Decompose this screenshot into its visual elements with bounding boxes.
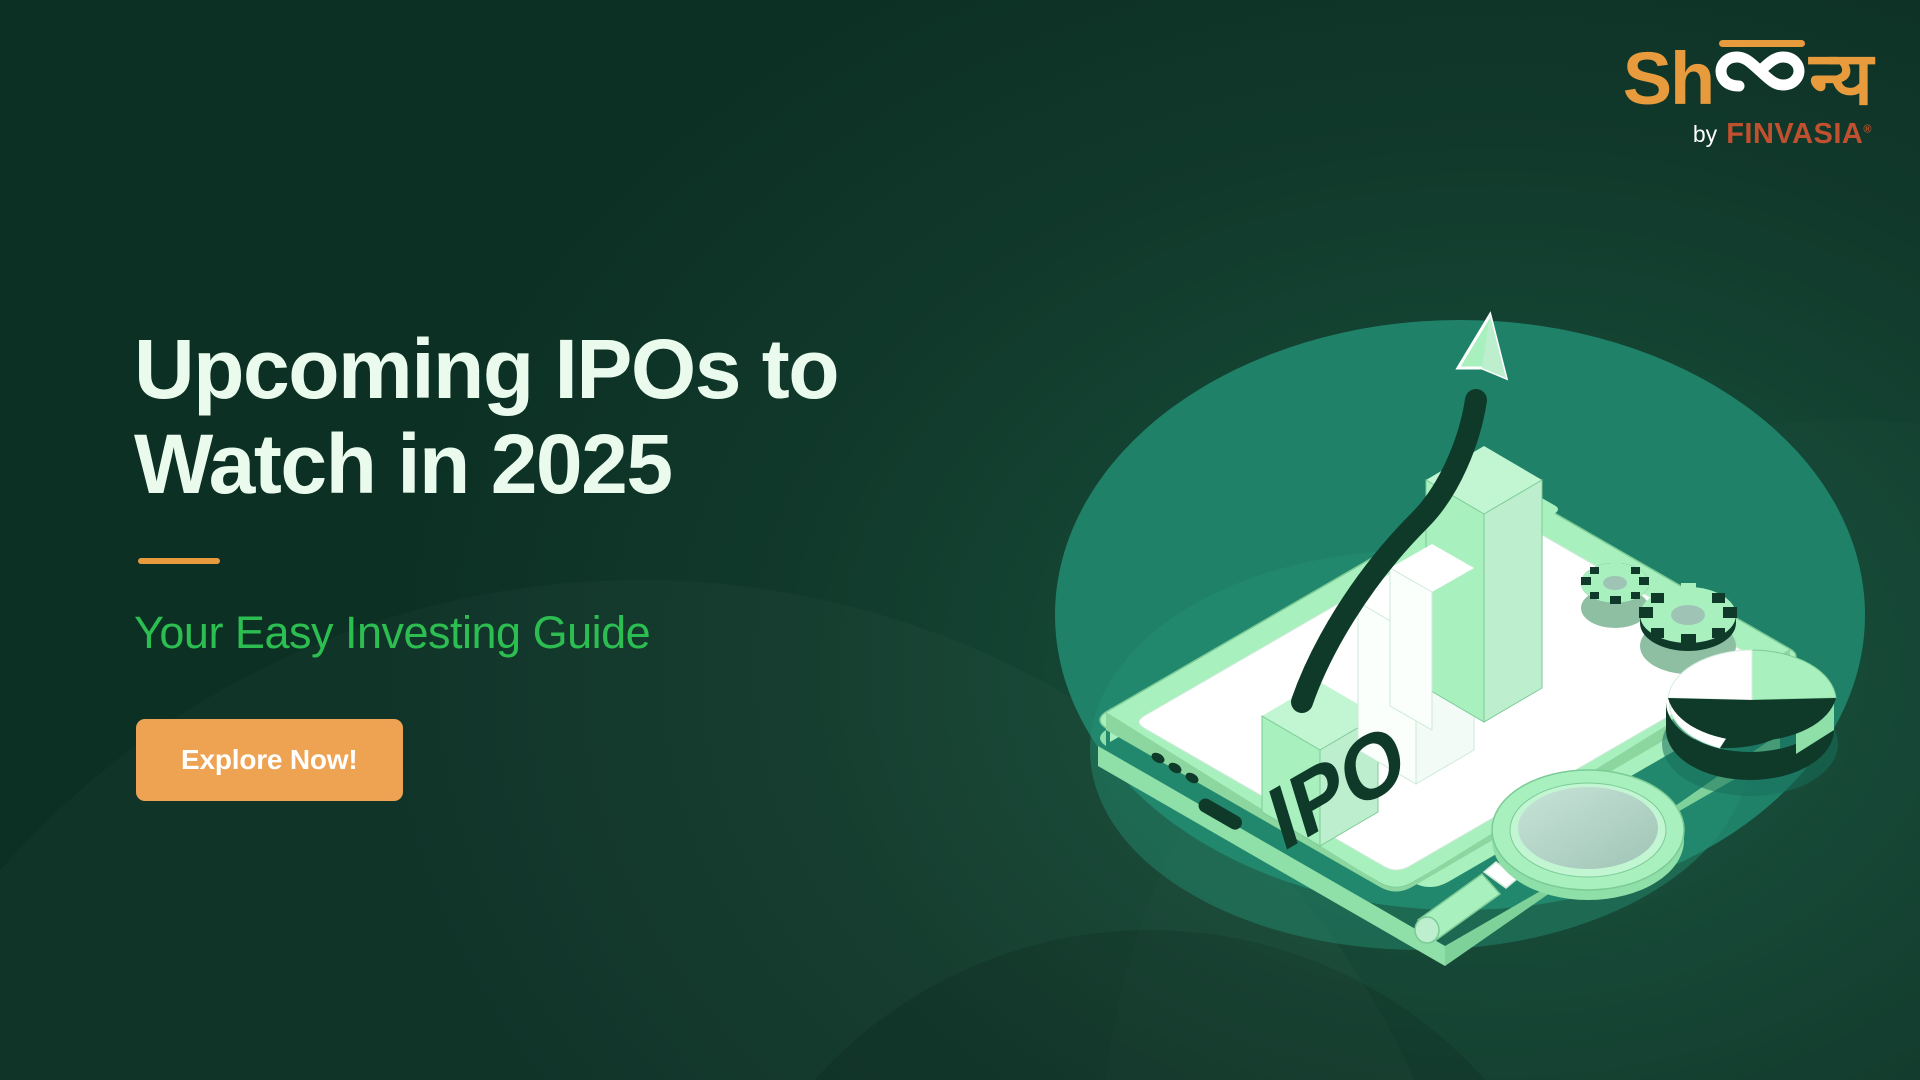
isometric-ipo-illustration: IPO (1020, 250, 1900, 970)
company-text: FINVASIA (1726, 118, 1863, 150)
accent-divider (138, 558, 220, 564)
hero-content: Upcoming IPOs toWatch in 2025 Your Easy … (134, 322, 894, 801)
logo-text-sh: Sh (1623, 42, 1714, 116)
explore-now-button[interactable]: Explore Now! (136, 719, 403, 801)
ipo-promo-banner: Sh न्य by FINVASIA® Upcoming IPOs toWatc… (0, 0, 1920, 1080)
headline-line-2: Watch in 2025 (134, 417, 672, 511)
headline-line-1: Upcoming IPOs to (134, 322, 838, 416)
pie-chart-3d (1662, 650, 1838, 796)
subtitle: Your Easy Investing Guide (134, 608, 894, 658)
logo-byline: by FINVASIA® (1572, 118, 1872, 151)
page-title: Upcoming IPOs toWatch in 2025 (134, 322, 894, 512)
infinity-icon (1713, 30, 1809, 104)
registered-mark-icon: ® (1863, 123, 1872, 135)
logo-wordmark: Sh न्य (1572, 30, 1872, 116)
logo-company-name: FINVASIA® (1726, 118, 1872, 151)
gear-small (1581, 562, 1649, 628)
logo-text-nya: न्य (1809, 42, 1872, 116)
brand-logo[interactable]: Sh न्य by FINVASIA® (1572, 30, 1872, 160)
magnifier-lens (1492, 770, 1684, 900)
logo-by-label: by (1693, 121, 1717, 148)
